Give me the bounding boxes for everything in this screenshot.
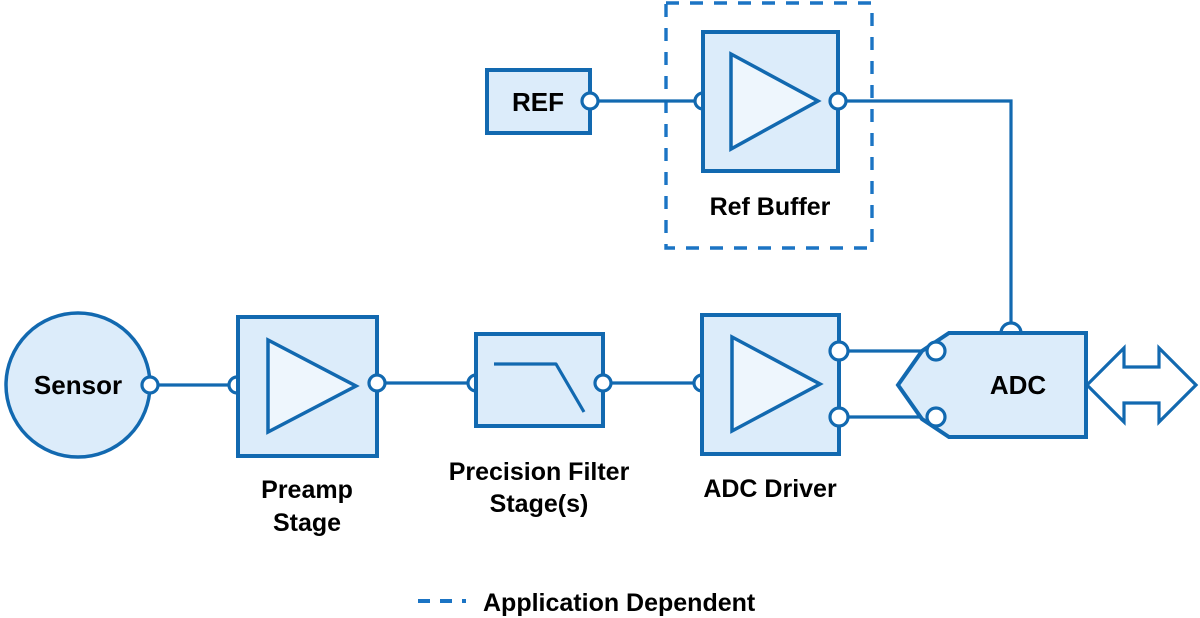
ref-buffer-label: Ref Buffer: [710, 193, 831, 221]
wire-refbuffer-to-adc: [838, 101, 1011, 333]
node-filter-output[interactable]: [595, 375, 611, 391]
preamp-label-line1: Preamp: [261, 476, 353, 504]
ref-block-label: REF: [512, 87, 564, 117]
node-sensor-output[interactable]: [142, 377, 158, 393]
filter-label-line2: Stage(s): [490, 490, 589, 518]
legend: Application Dependent: [418, 589, 756, 617]
node-adc-input-negative[interactable]: [927, 408, 945, 426]
node-adcdriver-output-positive[interactable]: [830, 342, 848, 360]
filter-body: [476, 334, 603, 426]
filter-label-line1: Precision Filter: [449, 458, 630, 486]
sensor-block[interactable]: Sensor: [6, 313, 150, 457]
bidirectional-arrow-icon: [1087, 348, 1196, 422]
precision-filter-block[interactable]: Precision Filter Stage(s): [449, 334, 630, 518]
legend-label: Application Dependent: [483, 589, 756, 617]
ref-buffer-block[interactable]: Ref Buffer: [703, 32, 838, 221]
adc-label: ADC: [990, 370, 1047, 400]
sensor-label: Sensor: [34, 370, 122, 400]
signal-chain-diagram: REF Ref Buffer Sensor Preamp S: [0, 0, 1200, 618]
node-adc-input-positive[interactable]: [927, 342, 945, 360]
node-preamp-output[interactable]: [369, 375, 385, 391]
adc-driver-block[interactable]: ADC Driver: [702, 315, 839, 503]
block-diagram-canvas: REF Ref Buffer Sensor Preamp S: [0, 0, 1200, 618]
node-ref-output[interactable]: [582, 93, 598, 109]
preamp-label-line2: Stage: [273, 509, 341, 537]
node-adcdriver-output-negative[interactable]: [830, 408, 848, 426]
preamp-stage-block[interactable]: Preamp Stage: [238, 317, 377, 537]
node-refbuffer-output[interactable]: [830, 93, 846, 109]
adc-driver-label: ADC Driver: [703, 475, 837, 503]
ref-block[interactable]: REF: [487, 70, 590, 133]
